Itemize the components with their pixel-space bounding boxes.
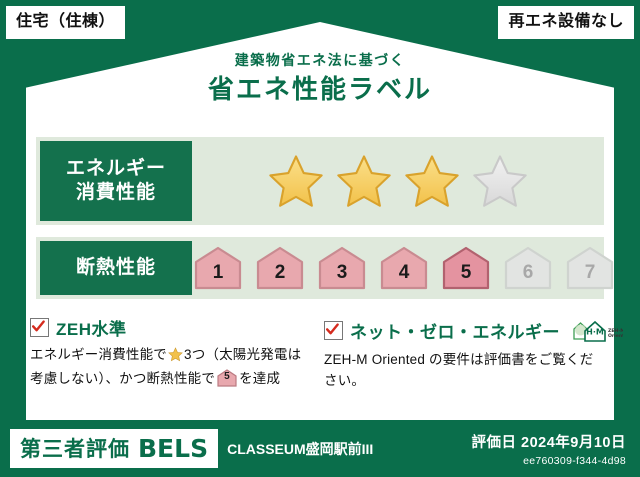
insulation-level-chip: 1 xyxy=(193,245,243,291)
star-filled-icon xyxy=(335,153,393,209)
insulation-level-chip: 6 xyxy=(503,245,553,291)
insulation-level-number: 5 xyxy=(461,263,472,291)
zeh-body-part1: エネルギー消費性能で xyxy=(30,347,167,362)
insulation-level-number: 6 xyxy=(523,263,534,291)
third-party-evaluation-label: 第三者評価 xyxy=(20,433,130,463)
energy-label-line2: 消費性能 xyxy=(76,181,156,205)
net-zero-checkbox[interactable] xyxy=(324,321,343,340)
energy-performance-row: エネルギー 消費性能 xyxy=(36,137,604,225)
svg-text:H·M: H·M xyxy=(586,328,604,337)
star-rating xyxy=(192,137,604,225)
insulation-level-number: 1 xyxy=(213,263,224,291)
net-zero-title: ネット・ゼロ・エネルギー xyxy=(350,318,560,343)
zeh-m-oriented-logo: H·M ZEH-M Oriented xyxy=(571,315,623,345)
footer-bar: 第三者評価 BELS CLASSEUM盛岡駅前III 評価日 2024年9月10… xyxy=(0,420,640,477)
renewable-equipment-tag: 再エネ設備なし xyxy=(498,6,634,39)
insulation-level-chip: 2 xyxy=(255,245,305,291)
net-zero-body: ZEH-M Oriented の要件は評価書をご覧ください。 xyxy=(324,350,600,392)
bels-badge: 第三者評価 BELS xyxy=(10,429,218,468)
star-filled-icon xyxy=(267,153,325,209)
page-title: 省エネ性能ラベル xyxy=(0,75,640,105)
insulation-level-chip: 5 xyxy=(441,245,491,291)
net-zero-energy-note: ネット・ゼロ・エネルギー H·M ZEH-M Oriented ZEH-M Or… xyxy=(320,315,610,392)
zeh-standard-note: ZEH水準 エネルギー消費性能で3つ（太陽光発電は考慮しない）、かつ断熱性能で5… xyxy=(30,315,320,392)
insulation-label-line1: 断熱性能 xyxy=(76,256,156,280)
energy-performance-label: エネルギー 消費性能 xyxy=(40,141,192,221)
star-empty-icon xyxy=(471,153,529,209)
zeh-standard-body: エネルギー消費性能で3つ（太陽光発電は考慮しない）、かつ断熱性能で5を達成 xyxy=(30,345,310,390)
inline-house-icon: 5 xyxy=(217,369,237,387)
evaluation-date: 評価日 2024年9月10日 xyxy=(472,431,626,452)
building-type-tag: 住宅（住棟） xyxy=(6,6,125,39)
notes-section: ZEH水準 エネルギー消費性能で3つ（太陽光発電は考慮しない）、かつ断熱性能で5… xyxy=(30,315,610,392)
zeh-standard-heading: ZEH水準 xyxy=(30,315,310,340)
insulation-performance-label: 断熱性能 xyxy=(40,241,192,295)
insulation-level-chip: 4 xyxy=(379,245,429,291)
svg-text:Oriented: Oriented xyxy=(608,333,623,339)
evaluation-id: ee760309-f344-4d98 xyxy=(472,455,626,467)
evaluation-meta: 評価日 2024年9月10日 ee760309-f344-4d98 xyxy=(472,431,626,467)
inline-house-number: 5 xyxy=(217,369,237,387)
title-block: 建築物省エネ法に基づく 省エネ性能ラベル xyxy=(0,52,640,105)
insulation-level-number: 7 xyxy=(585,263,596,291)
project-name: CLASSEUM盛岡駅前III xyxy=(227,439,373,459)
insulation-level-chip: 3 xyxy=(317,245,367,291)
zeh-body-star-count: 3つ（太陽光発電 xyxy=(184,347,288,362)
star-filled-icon xyxy=(403,153,461,209)
zeh-standard-title: ZEH水準 xyxy=(56,315,127,340)
insulation-performance-row: 断熱性能 1234567 xyxy=(36,237,604,299)
insulation-level-number: 4 xyxy=(399,263,410,291)
insulation-level-number: 3 xyxy=(337,263,348,291)
bels-logo: BELS xyxy=(138,434,208,463)
energy-performance-label: 住宅（住棟） 再エネ設備なし 建築物省エネ法に基づく 省エネ性能ラベル エネルギ… xyxy=(0,0,640,477)
zeh-standard-checkbox[interactable] xyxy=(30,318,49,337)
inline-star-icon xyxy=(168,347,183,369)
insulation-level-number: 2 xyxy=(275,263,286,291)
insulation-level-scale: 1234567 xyxy=(192,237,616,299)
title-subtitle: 建築物省エネ法に基づく xyxy=(0,52,640,69)
energy-label-line1: エネルギー xyxy=(66,157,166,181)
net-zero-heading: ネット・ゼロ・エネルギー H·M ZEH-M Oriented xyxy=(324,315,600,345)
insulation-level-chip: 7 xyxy=(565,245,615,291)
zeh-body-part3: を達成 xyxy=(239,371,280,386)
